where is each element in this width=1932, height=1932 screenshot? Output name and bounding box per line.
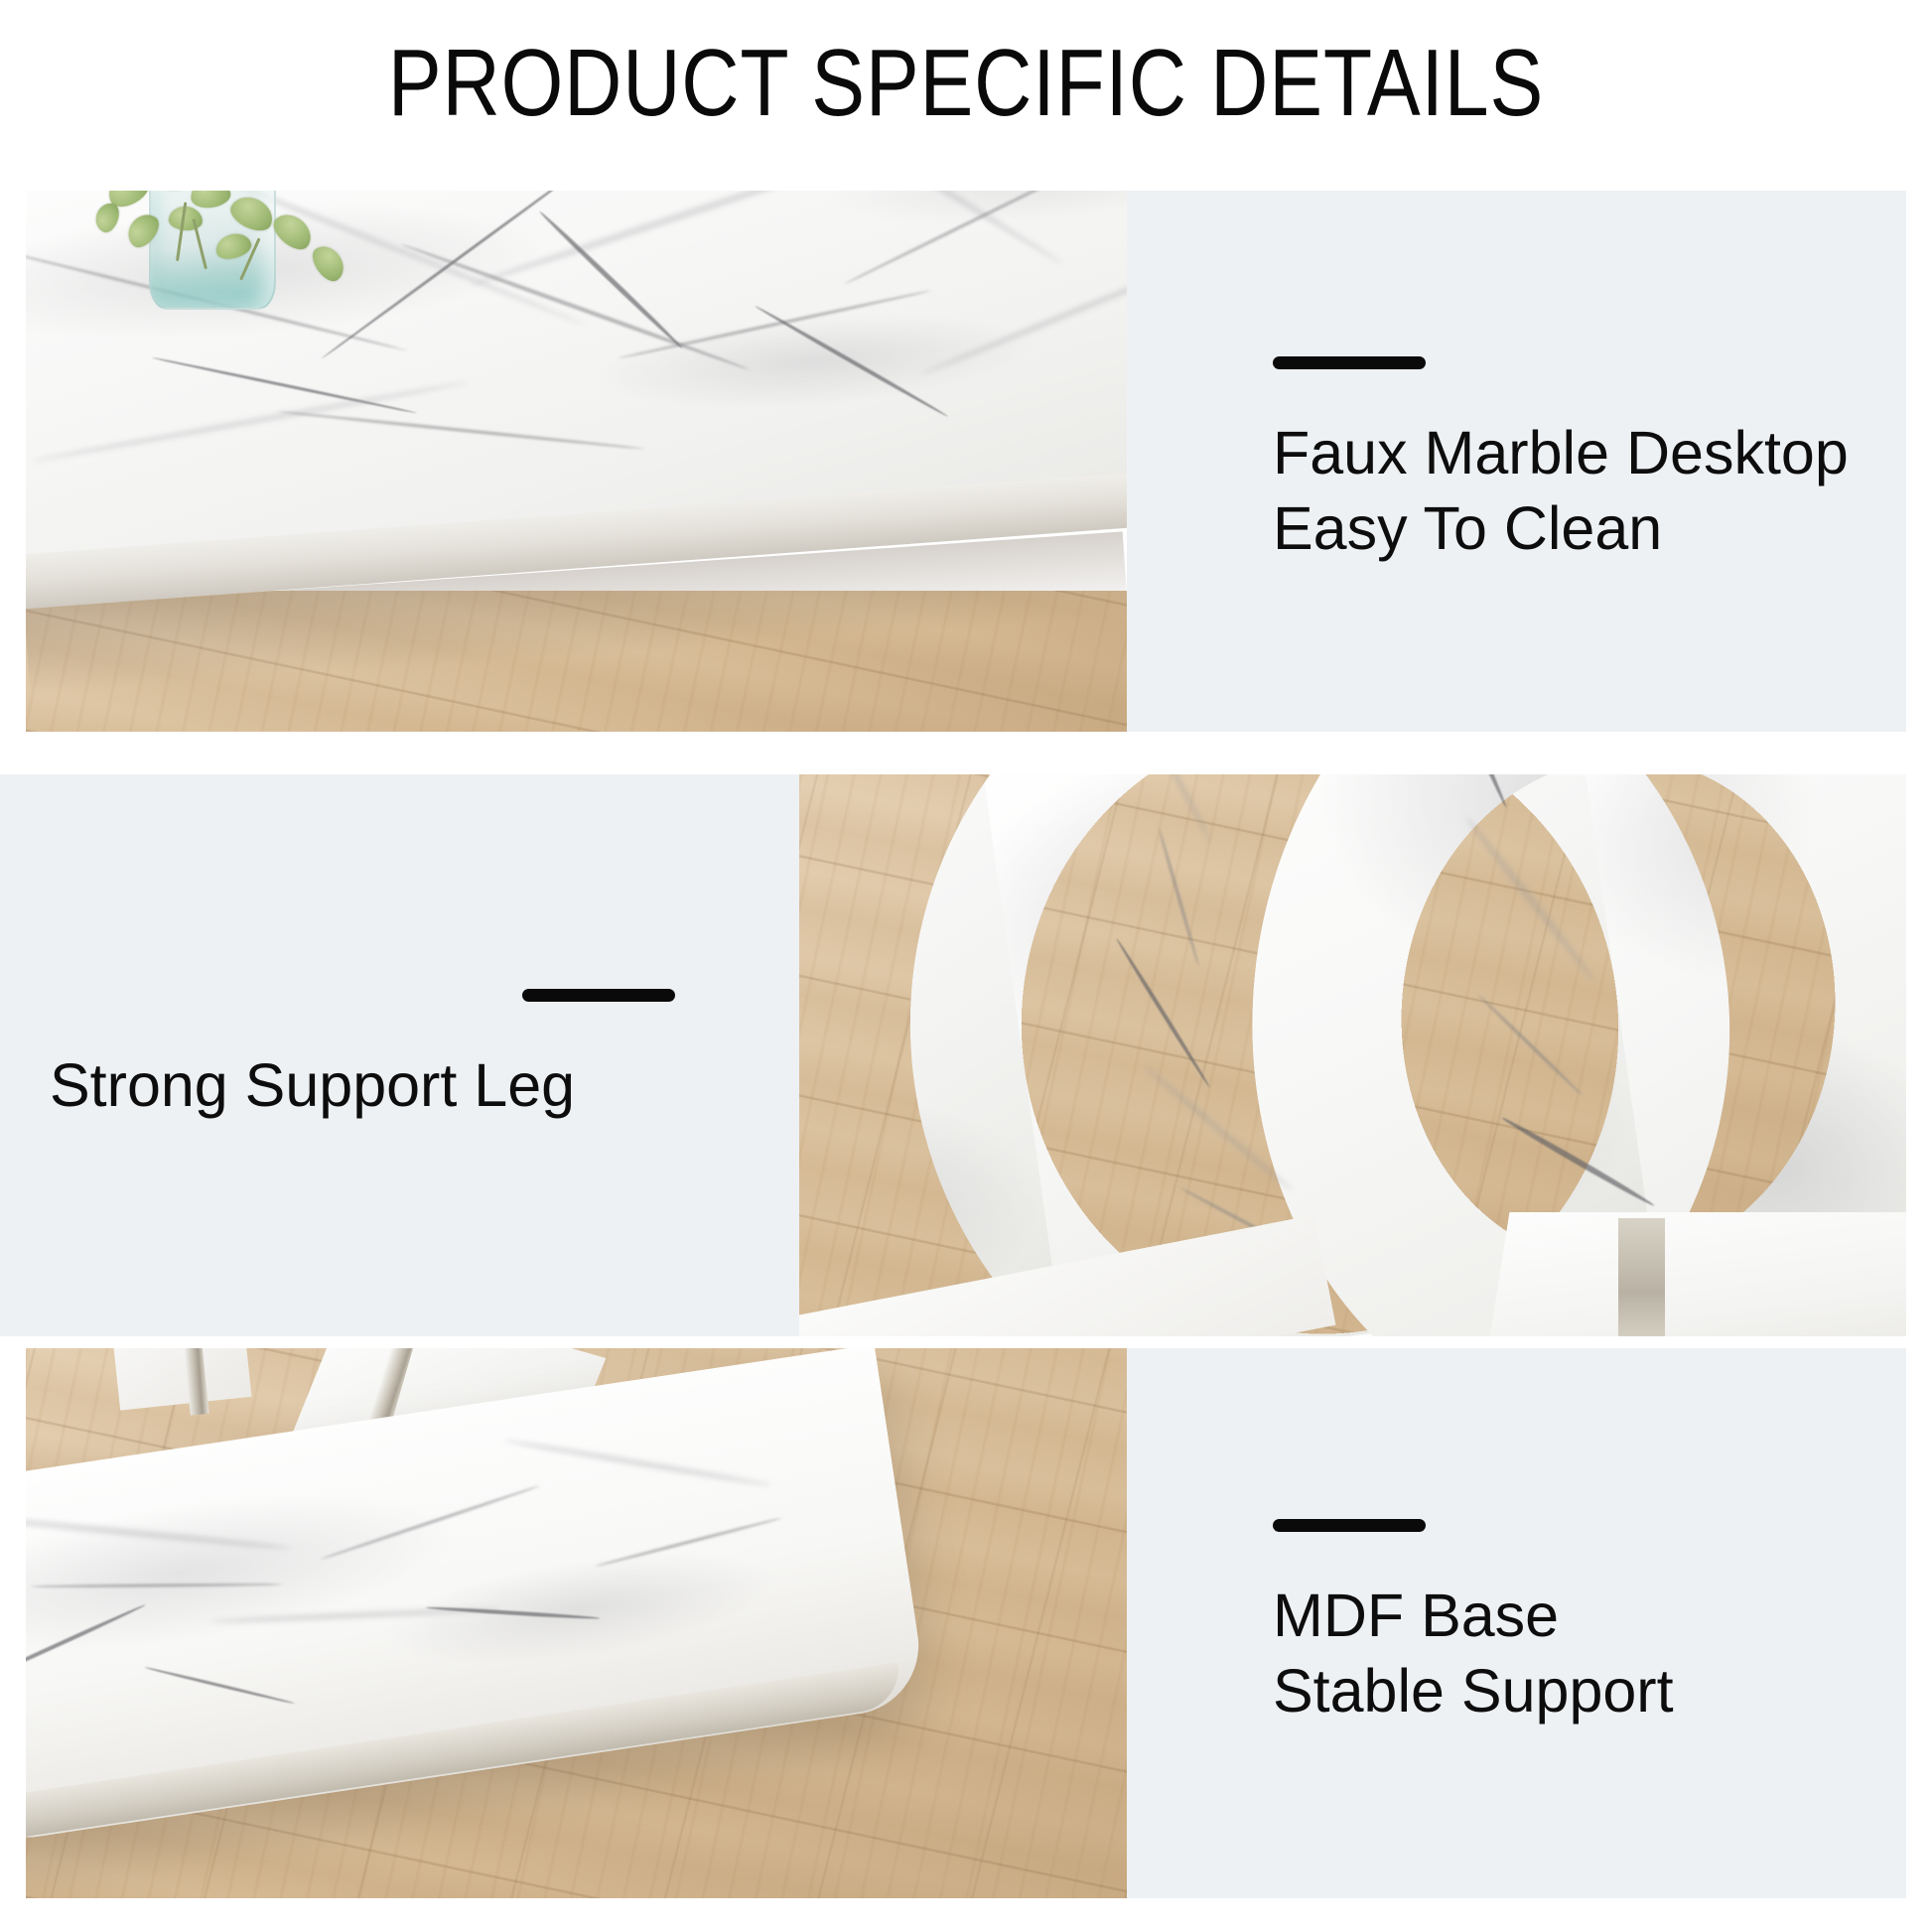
product-detail-page: PRODUCT SPECIFIC DETAILS	[0, 0, 1932, 1932]
accent-dash-icon	[1273, 1519, 1426, 1532]
product-photo-faux-marble-desktop	[26, 191, 1127, 732]
support-leg-chrome-accent	[1618, 1218, 1665, 1336]
product-photo-mdf-base	[26, 1348, 1127, 1898]
accent-dash-icon	[522, 989, 675, 1002]
caption-panel-mdf-base: MDF Base Stable Support	[1127, 1348, 1906, 1898]
detail-section-mdf-base: MDF Base Stable Support	[26, 1348, 1906, 1898]
caption-panel-strong-support-leg: Strong Support Leg	[0, 774, 799, 1336]
page-title: PRODUCT SPECIFIC DETAILS	[155, 32, 1778, 135]
caption-text: MDF Base Stable Support	[1273, 1578, 1866, 1728]
accent-dash-icon	[1273, 356, 1426, 369]
caption-panel-faux-marble-desktop: Faux Marble Desktop Easy To Clean	[1127, 191, 1906, 732]
detail-section-faux-marble-desktop: Faux Marble Desktop Easy To Clean	[26, 191, 1906, 732]
caption-text: Strong Support Leg	[40, 1047, 759, 1123]
product-photo-strong-support-leg	[799, 774, 1906, 1336]
support-leg-foot	[1483, 1212, 1906, 1336]
detail-section-strong-support-leg: Strong Support Leg	[0, 774, 1906, 1336]
caption-text: Faux Marble Desktop Easy To Clean	[1273, 415, 1866, 566]
